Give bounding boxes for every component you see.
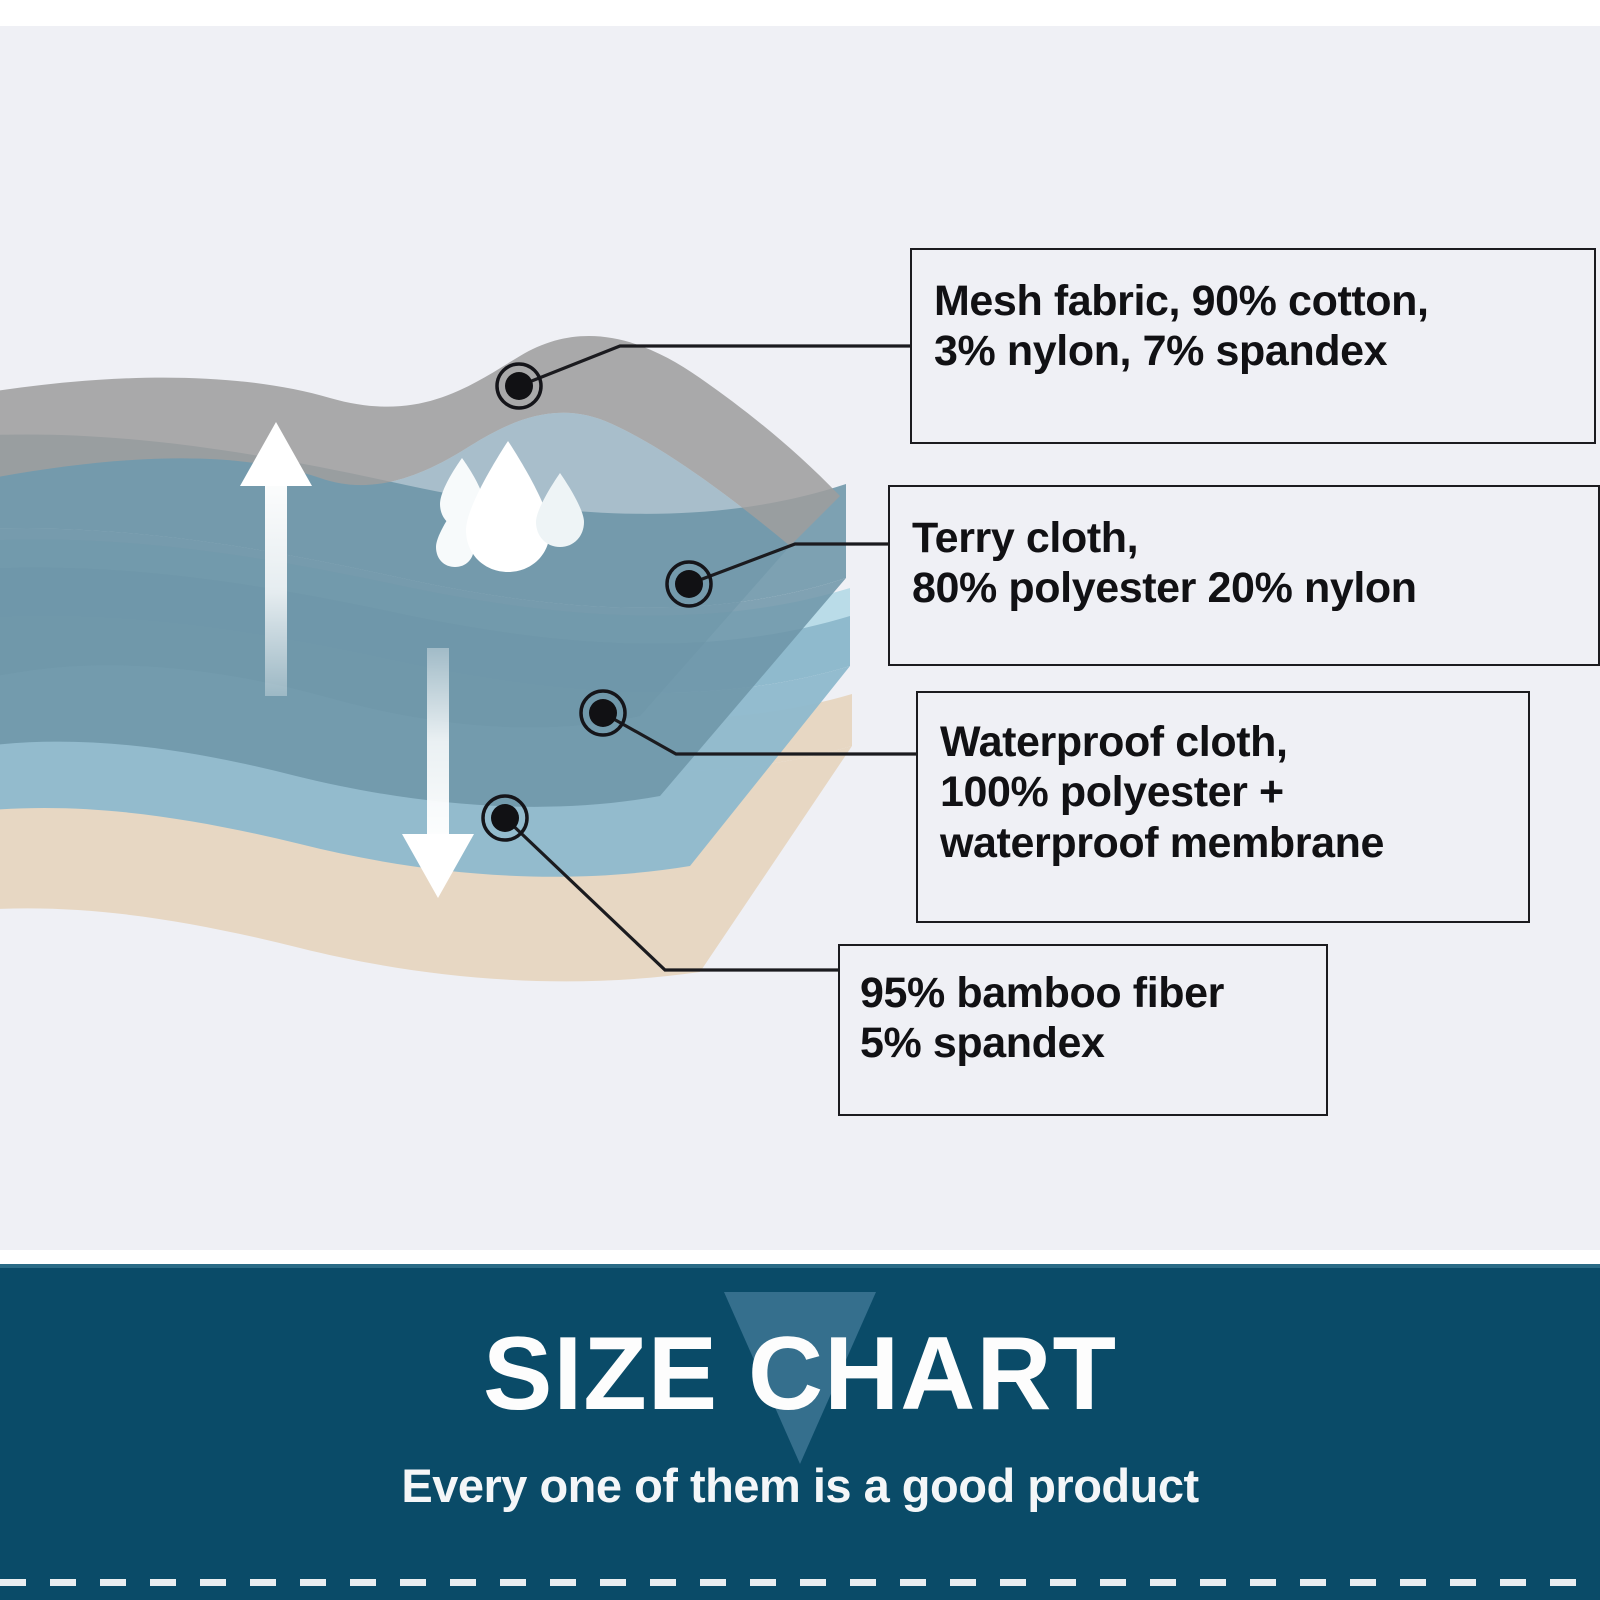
banner-subtitle: Every one of them is a good product xyxy=(0,1462,1600,1509)
banner-dashed-divider xyxy=(0,1579,1600,1586)
banner-top-rule xyxy=(0,1264,1600,1268)
callout-box-waterproof-cloth: Waterproof cloth, 100% polyester + water… xyxy=(916,691,1530,923)
callout-text-bamboo-fiber: 95% bamboo fiber 5% spandex xyxy=(860,968,1224,1069)
callout-box-terry-cloth: Terry cloth, 80% polyester 20% nylon xyxy=(888,485,1600,666)
size-chart-banner: SIZE CHART Every one of them is a good p… xyxy=(0,1264,1600,1600)
callout-box-mesh-fabric: Mesh fabric, 90% cotton, 3% nylon, 7% sp… xyxy=(910,248,1596,444)
page-root: Mesh fabric, 90% cotton, 3% nylon, 7% sp… xyxy=(0,0,1600,1600)
callout-text-mesh-fabric: Mesh fabric, 90% cotton, 3% nylon, 7% sp… xyxy=(934,276,1429,377)
callout-text-terry-cloth: Terry cloth, 80% polyester 20% nylon xyxy=(912,513,1417,614)
fabric-illustration-panel: Mesh fabric, 90% cotton, 3% nylon, 7% sp… xyxy=(0,26,1600,1250)
banner-title: SIZE CHART xyxy=(0,1322,1600,1426)
callout-text-waterproof-cloth: Waterproof cloth, 100% polyester + water… xyxy=(940,717,1384,868)
callout-box-bamboo-fiber: 95% bamboo fiber 5% spandex xyxy=(838,944,1328,1116)
